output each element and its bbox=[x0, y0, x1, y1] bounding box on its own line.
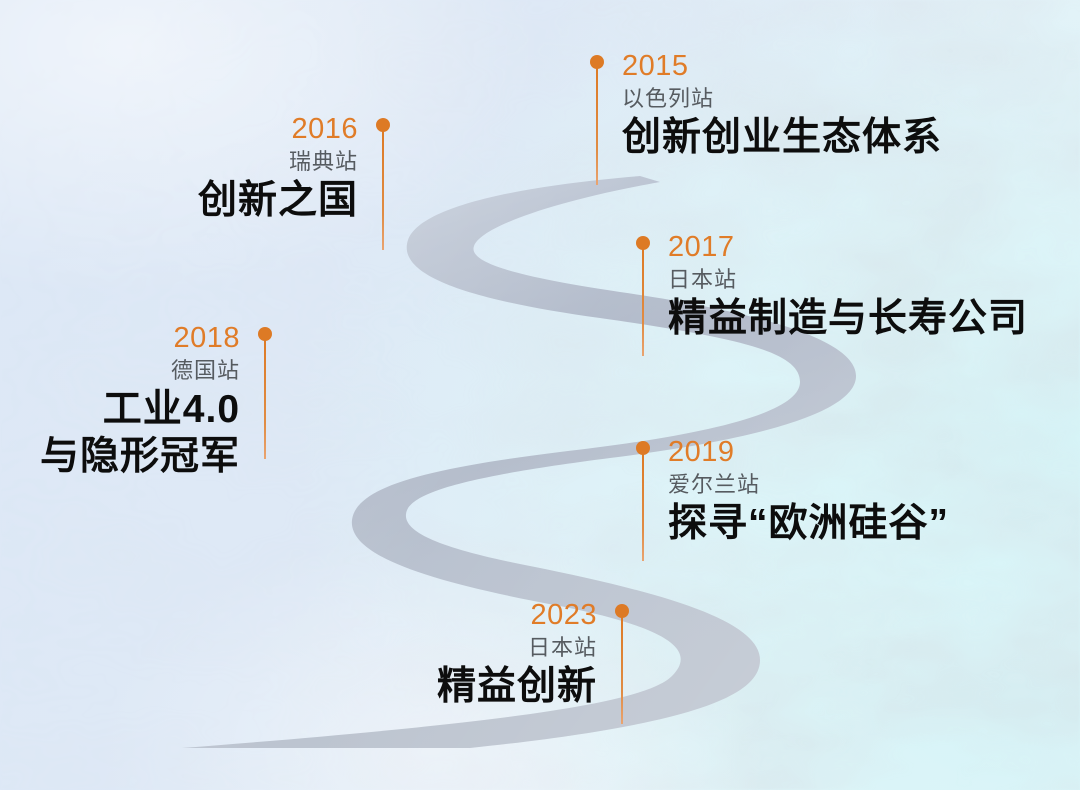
timeline-text-2017: 2017 日本站 精益制造与长寿公司 bbox=[668, 230, 1028, 342]
timeline-entry-2017[interactable]: 2017 日本站 精益制造与长寿公司 bbox=[636, 236, 1028, 342]
timeline-title: 创新创业生态体系 bbox=[622, 114, 942, 161]
timeline-text-2018: 2018 德国站 工业4.0 与隐形冠军 bbox=[40, 321, 240, 480]
timeline-station: 德国站 bbox=[40, 355, 240, 386]
timeline-year: 2015 bbox=[622, 49, 942, 83]
timeline-stem-line bbox=[596, 67, 598, 185]
timeline-station: 日本站 bbox=[668, 264, 1028, 295]
timeline-year: 2016 bbox=[198, 112, 358, 146]
timeline-title-line2: 与隐形冠军 bbox=[40, 433, 240, 480]
timeline-stem-line bbox=[642, 248, 644, 356]
timeline-stem-line bbox=[382, 130, 384, 250]
timeline-entry-2016[interactable]: 2016 瑞典站 创新之国 bbox=[198, 118, 390, 224]
timeline-year: 2019 bbox=[668, 435, 949, 469]
timeline-title: 探寻“欧洲硅谷” bbox=[668, 500, 949, 547]
timeline-station: 爱尔兰站 bbox=[668, 469, 949, 500]
timeline-stem-line bbox=[642, 453, 644, 561]
timeline-station: 瑞典站 bbox=[198, 146, 358, 177]
timeline-year: 2017 bbox=[668, 230, 1028, 264]
timeline-stem-line bbox=[621, 616, 623, 724]
timeline-text-2016: 2016 瑞典站 创新之国 bbox=[198, 112, 358, 224]
timeline-title: 精益制造与长寿公司 bbox=[668, 295, 1028, 342]
timeline-text-2023: 2023 日本站 精益创新 bbox=[437, 598, 597, 710]
timeline-entry-2015[interactable]: 2015 以色列站 创新创业生态体系 bbox=[590, 55, 942, 161]
timeline-title-line1: 工业4.0 bbox=[40, 386, 240, 433]
timeline-entry-2019[interactable]: 2019 爱尔兰站 探寻“欧洲硅谷” bbox=[636, 441, 949, 547]
timeline-title: 创新之国 bbox=[198, 177, 358, 224]
timeline-entry-2018[interactable]: 2018 德国站 工业4.0 与隐形冠军 bbox=[40, 327, 272, 480]
timeline-text-2015: 2015 以色列站 创新创业生态体系 bbox=[622, 49, 942, 161]
timeline-title: 精益创新 bbox=[437, 663, 597, 710]
timeline-station: 日本站 bbox=[437, 632, 597, 663]
timeline-year: 2023 bbox=[437, 598, 597, 632]
timeline-stem-line bbox=[264, 339, 266, 459]
timeline-entry-2023[interactable]: 2023 日本站 精益创新 bbox=[437, 604, 629, 710]
timeline-year: 2018 bbox=[40, 321, 240, 355]
timeline-text-2019: 2019 爱尔兰站 探寻“欧洲硅谷” bbox=[668, 435, 949, 547]
timeline-infographic: 2015 以色列站 创新创业生态体系 2016 瑞典站 创新之国 2017 日本… bbox=[0, 0, 1080, 790]
timeline-station: 以色列站 bbox=[622, 83, 942, 114]
